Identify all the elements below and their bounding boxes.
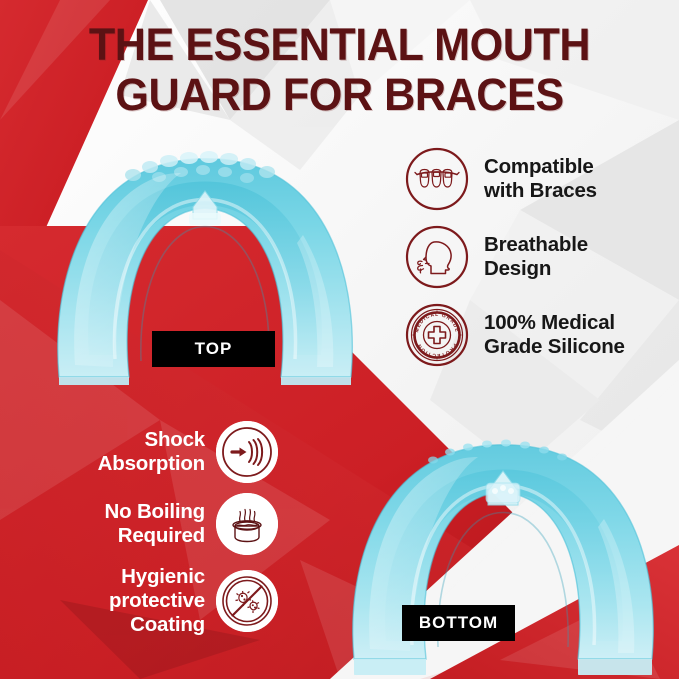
no-boiling-pot-icon <box>216 493 278 555</box>
infographic-canvas: THE ESSENTIAL MOUTH GUARD FOR BRACES <box>0 0 679 679</box>
feature-label-line-2: Absorption <box>98 452 205 475</box>
feature-medical-grade-silicone: MEDICAL GRADE PROTECTION 100% Medical <box>404 302 679 368</box>
breathing-head-icon <box>404 224 470 290</box>
feature-label-line-1: Hygienic <box>121 565 205 588</box>
feature-label-line-2: Design <box>484 257 551 280</box>
shock-absorption-icon <box>216 421 278 483</box>
feature-label: Compatible with Braces <box>484 155 597 203</box>
feature-label-line-1: No Boiling <box>105 500 205 523</box>
feature-label-line-2: Required <box>118 524 205 547</box>
feature-breathable-design: Breathable Design <box>404 224 679 290</box>
badge-top-label: TOP <box>152 331 275 367</box>
feature-label-line-1: Shock <box>144 428 205 451</box>
feature-label: Breathable Design <box>484 233 588 281</box>
feature-label-line-1: 100% Medical <box>484 311 615 334</box>
feature-label: Shock Absorption <box>98 428 205 476</box>
feature-list-right: Compatible with Braces <box>404 146 679 368</box>
no-germs-icon <box>216 570 278 632</box>
feature-label-line-2: with Braces <box>484 179 597 202</box>
feature-label: No Boiling Required <box>105 500 205 548</box>
feature-label-line-1: Compatible <box>484 155 594 178</box>
feature-compatible-with-braces: Compatible with Braces <box>404 146 679 212</box>
feature-label-line-3: Coating <box>130 613 205 636</box>
feature-label-line-1: Breathable <box>484 233 588 256</box>
braces-teeth-icon <box>404 146 470 212</box>
feature-hygienic-protective-coating: Hygienic protective Coating <box>58 565 278 637</box>
feature-label: Hygienic protective Coating <box>109 565 205 637</box>
feature-list-left: Shock Absorption No Boiling <box>58 421 278 637</box>
badge-bottom-label: BOTTOM <box>402 605 515 641</box>
feature-shock-absorption: Shock Absorption <box>58 421 278 483</box>
medical-grade-seal-icon: MEDICAL GRADE PROTECTION <box>404 302 470 368</box>
feature-no-boiling-required: No Boiling Required <box>58 493 278 555</box>
feature-label-line-2: Grade Silicone <box>484 335 625 358</box>
feature-label: 100% Medical Grade Silicone <box>484 311 625 359</box>
feature-label-line-2: protective <box>109 589 205 612</box>
